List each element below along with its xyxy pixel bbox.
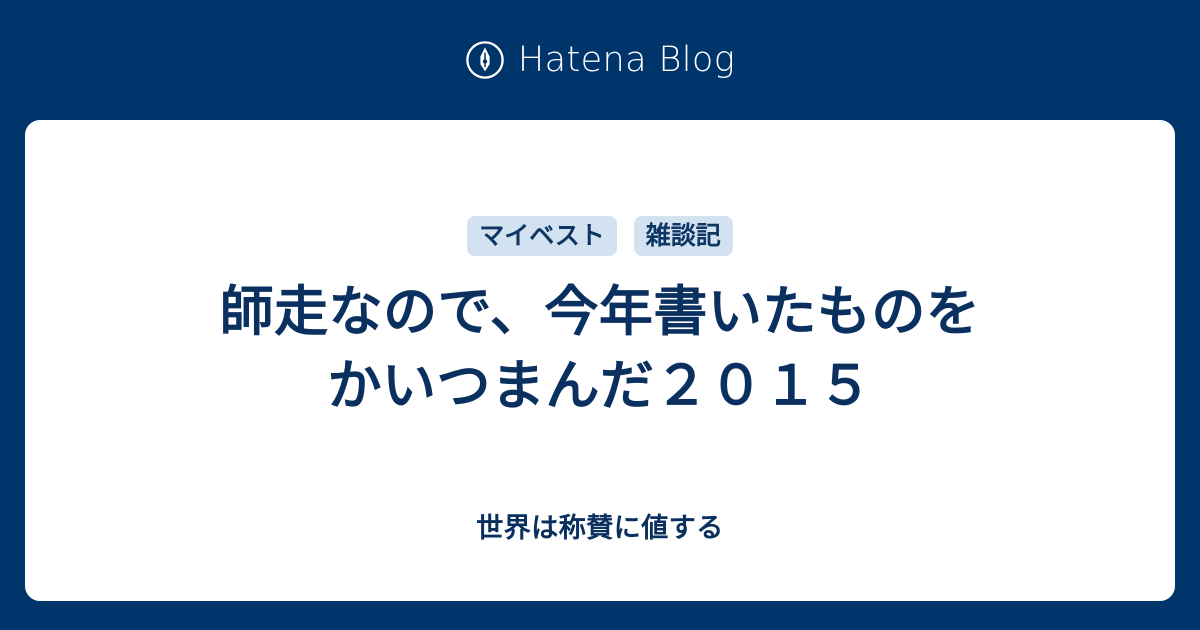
hatena-blog-brand-name: Hatena Blog — [518, 43, 735, 78]
entry-title-line: かいつまんだ２０１５ — [220, 349, 981, 423]
entry-title: 師走なので、今年書いたものを かいつまんだ２０１５ — [160, 275, 1041, 423]
entry-title-line: 師走なので、今年書いたものを — [220, 275, 981, 349]
ogp-card-canvas: Hatena Blog マイベスト 雑談記 師走なので、今年書いたものを かいつ… — [0, 0, 1200, 630]
blog-name: 世界は称賛に値する — [25, 515, 1175, 542]
fountain-pen-nib-icon — [465, 40, 505, 80]
category-tag-badge[interactable]: 雑談記 — [634, 216, 733, 256]
category-tag-row: マイベスト 雑談記 — [467, 216, 733, 256]
entry-content-card: マイベスト 雑談記 師走なので、今年書いたものを かいつまんだ２０１５ 世界は称… — [25, 120, 1175, 601]
category-tag-badge[interactable]: マイベスト — [467, 216, 617, 256]
hatena-blog-brand-header: Hatena Blog — [0, 0, 1200, 120]
